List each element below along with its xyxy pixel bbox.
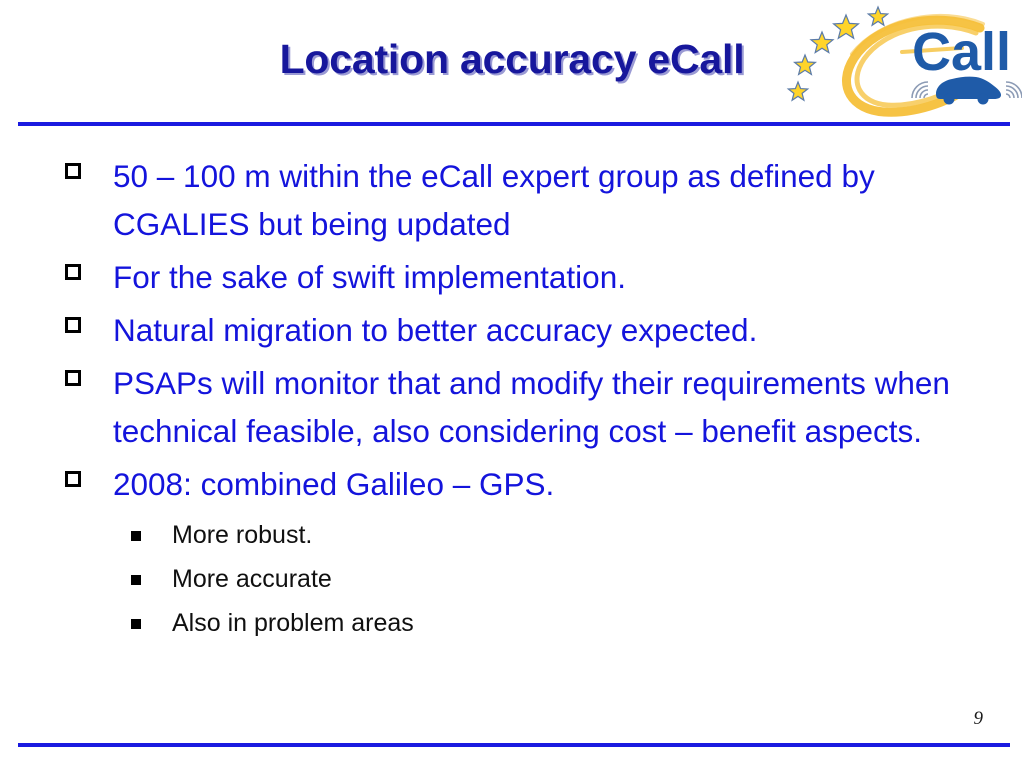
list-item: PSAPs will monitor that and modify their… xyxy=(60,359,980,455)
list-item: 2008: combined Galileo – GPS. xyxy=(60,460,980,508)
filled-square-bullet-icon xyxy=(131,575,141,585)
list-item: Natural migration to better accuracy exp… xyxy=(60,306,980,354)
hollow-square-bullet-icon xyxy=(65,317,86,338)
list-item-text: More robust. xyxy=(172,521,312,549)
list-item-text: 2008: combined Galileo – GPS. xyxy=(113,466,554,502)
list-item-text: More accurate xyxy=(172,565,332,593)
list-item-text: PSAPs will monitor that and modify their… xyxy=(113,365,950,449)
list-item-text: 50 – 100 m within the eCall expert group… xyxy=(113,158,875,242)
list-item-text: For the sake of swift implementation. xyxy=(113,259,626,295)
hollow-square-bullet-icon xyxy=(65,370,86,391)
page-title: Location accuracy eCall xyxy=(0,36,1024,83)
list-item-text: Also in problem areas xyxy=(172,609,414,637)
filled-square-bullet-icon xyxy=(131,531,141,541)
bullet-list: 50 – 100 m within the eCall expert group… xyxy=(60,152,980,645)
footer-divider xyxy=(18,743,1010,747)
filled-square-bullet-icon xyxy=(131,619,141,629)
list-item: For the sake of swift implementation. xyxy=(60,253,980,301)
hollow-square-bullet-icon xyxy=(65,264,86,285)
slide: Call Location accuracy eCall xyxy=(0,0,1024,768)
title-divider xyxy=(18,122,1010,126)
list-item: More accurate xyxy=(60,557,980,601)
page-number: 9 xyxy=(974,708,984,730)
sub-bullet-list: More robust. More accurate Also in probl… xyxy=(60,513,980,645)
list-item-text: Natural migration to better accuracy exp… xyxy=(113,312,757,348)
list-item: More robust. xyxy=(60,513,980,557)
hollow-square-bullet-icon xyxy=(65,163,86,184)
list-item: 50 – 100 m within the eCall expert group… xyxy=(60,152,980,248)
list-item: Also in problem areas xyxy=(60,601,980,645)
hollow-square-bullet-icon xyxy=(65,471,86,492)
